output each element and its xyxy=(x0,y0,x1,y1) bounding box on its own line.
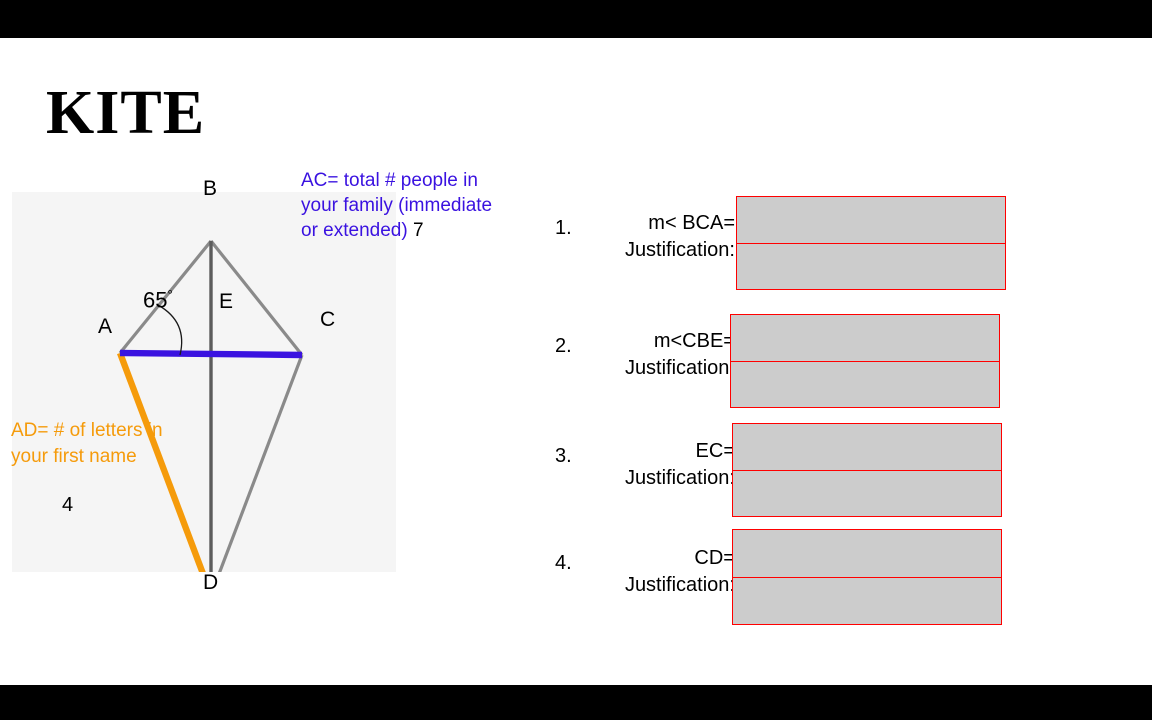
question-prompt: m<CBE= xyxy=(575,328,735,355)
answer-input-1[interactable] xyxy=(737,197,1005,243)
answer-stack xyxy=(732,423,1002,517)
angle-measure-value: 65 xyxy=(143,287,167,312)
answer-input-3[interactable] xyxy=(733,424,1001,470)
letterbox-bottom xyxy=(0,685,1152,720)
justification-input-4[interactable] xyxy=(733,577,1001,623)
kite-diagonal-ac xyxy=(120,353,302,355)
question-index: 3. xyxy=(555,446,572,466)
vertex-label-a: A xyxy=(98,316,112,337)
question-prompt: CD= xyxy=(575,545,735,572)
annotation-ac-text: AC= total # people in your family (immed… xyxy=(301,170,492,241)
answer-input-2[interactable] xyxy=(731,315,999,361)
annotation-ac-value: 7 xyxy=(413,220,424,241)
slide-stage: KITE B A C D E 65° AC= tot xyxy=(0,0,1152,720)
question-label-block: m<CBE= Justification: xyxy=(575,328,735,382)
question-index: 4. xyxy=(555,553,572,573)
question-label-block: CD= Justification: xyxy=(575,545,735,599)
vertex-label-c: C xyxy=(320,309,335,330)
justification-label: Justification: xyxy=(575,572,735,599)
justification-input-2[interactable] xyxy=(731,361,999,406)
vertex-label-e: E xyxy=(219,291,233,312)
justification-label: Justification: xyxy=(575,465,735,492)
letterbox-top xyxy=(0,0,1152,38)
justification-input-3[interactable] xyxy=(733,470,1001,515)
question-label-block: m< BCA= Justification: xyxy=(575,210,735,264)
answer-stack xyxy=(736,196,1006,290)
question-index: 1. xyxy=(555,218,572,238)
angle-measure-label: 65° xyxy=(143,288,173,311)
answer-input-4[interactable] xyxy=(733,530,1001,577)
question-label-block: EC= Justification: xyxy=(575,438,735,492)
answer-stack xyxy=(732,529,1002,625)
question-prompt: m< BCA= xyxy=(575,210,735,237)
angle-arc-bac xyxy=(158,305,182,355)
annotation-ad-value: 4 xyxy=(62,495,73,515)
justification-input-1[interactable] xyxy=(737,243,1005,288)
vertex-label-b: B xyxy=(203,178,217,199)
vertex-label-d: D xyxy=(203,572,218,593)
kite-side-cd xyxy=(211,355,302,572)
annotation-ad: AD= # of letters in your first name xyxy=(11,418,171,470)
annotation-ac: AC= total # people in your family (immed… xyxy=(301,169,501,244)
answer-stack xyxy=(730,314,1000,408)
page-title: KITE xyxy=(46,82,205,144)
slide-canvas: KITE B A C D E 65° AC= tot xyxy=(0,38,1152,685)
annotation-ad-text: AD= # of letters in your first name xyxy=(11,420,163,467)
justification-label: Justification: xyxy=(575,355,735,382)
question-prompt: EC= xyxy=(575,438,735,465)
justification-label: Justification: xyxy=(575,237,735,264)
question-index: 2. xyxy=(555,336,572,356)
degree-symbol: ° xyxy=(167,287,172,302)
